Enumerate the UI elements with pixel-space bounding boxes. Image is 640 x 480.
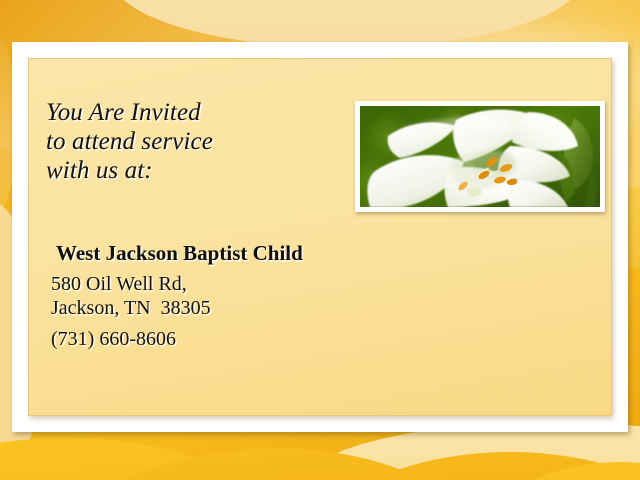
headline-line-3: with us at:: [46, 156, 346, 185]
lily-photo-image: [360, 106, 600, 207]
headline-line-1: You Are Invited: [46, 98, 346, 127]
background-hill-4: [470, 462, 640, 480]
background-hill-3: [300, 452, 640, 480]
photo-frame: [355, 101, 605, 212]
organization-name: West Jackson Baptist Child: [56, 241, 303, 266]
address-line-2: Jackson, TN 38305: [51, 296, 211, 320]
lily-photo: [360, 106, 600, 207]
address-line-1: 580 Oil Well Rd,: [51, 272, 211, 296]
background-arc-top: [112, 0, 582, 48]
invitation-slide: You Are Invited to attend service with u…: [0, 0, 640, 480]
headline-line-2: to attend service: [46, 127, 346, 156]
address-block: 580 Oil Well Rd, Jackson, TN 38305: [51, 272, 211, 320]
background-hill-2: [60, 448, 490, 480]
phone-number: (731) 660-8606: [51, 327, 176, 351]
background-hill-1: [0, 438, 300, 480]
headline: You Are Invited to attend service with u…: [46, 98, 346, 185]
